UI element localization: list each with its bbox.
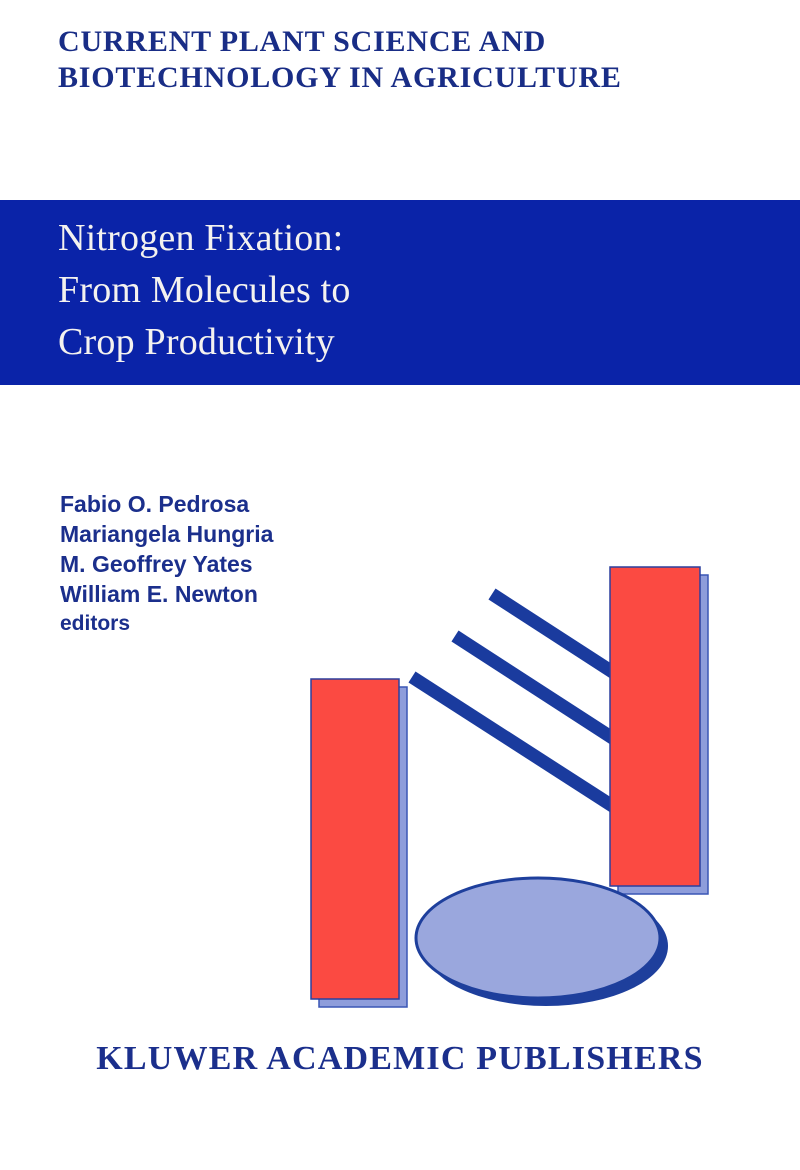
series-title-line-1: CURRENT PLANT SCIENCE AND xyxy=(58,24,738,60)
editors-role-label: editors xyxy=(60,609,390,639)
book-title-line-2: From Molecules to xyxy=(58,264,758,316)
editor-name: Fabio O. Pedrosa xyxy=(60,489,390,519)
ellipse-shadow xyxy=(424,886,668,1006)
right-bar-shadow xyxy=(618,575,708,894)
diagonal-bar-1 xyxy=(492,594,614,673)
publisher: KLUWER ACADEMIC PUBLISHERS xyxy=(0,1040,800,1078)
ellipse xyxy=(416,878,660,998)
series-title: CURRENT PLANT SCIENCE AND BIOTECHNOLOGY … xyxy=(58,24,738,96)
book-title: Nitrogen Fixation: From Molecules to Cro… xyxy=(58,212,758,368)
editor-name: Mariangela Hungria xyxy=(60,519,390,549)
left-bar-shadow xyxy=(319,687,407,1007)
publisher-name: KLUWER ACADEMIC PUBLISHERS xyxy=(96,1040,703,1077)
diagonal-bar-2 xyxy=(455,636,614,739)
left-red-bar xyxy=(311,679,399,999)
book-title-line-1: Nitrogen Fixation: xyxy=(58,212,758,264)
diagonal-bar-3 xyxy=(412,677,614,807)
editor-name: William E. Newton xyxy=(60,579,390,609)
editors-list: Fabio O. Pedrosa Mariangela Hungria M. G… xyxy=(60,489,390,639)
book-cover: CURRENT PLANT SCIENCE AND BIOTECHNOLOGY … xyxy=(0,0,800,1170)
book-title-line-3: Crop Productivity xyxy=(58,316,758,368)
right-red-bar xyxy=(610,567,700,886)
editor-name: M. Geoffrey Yates xyxy=(60,549,390,579)
series-title-line-2: BIOTECHNOLOGY IN AGRICULTURE xyxy=(58,60,738,96)
